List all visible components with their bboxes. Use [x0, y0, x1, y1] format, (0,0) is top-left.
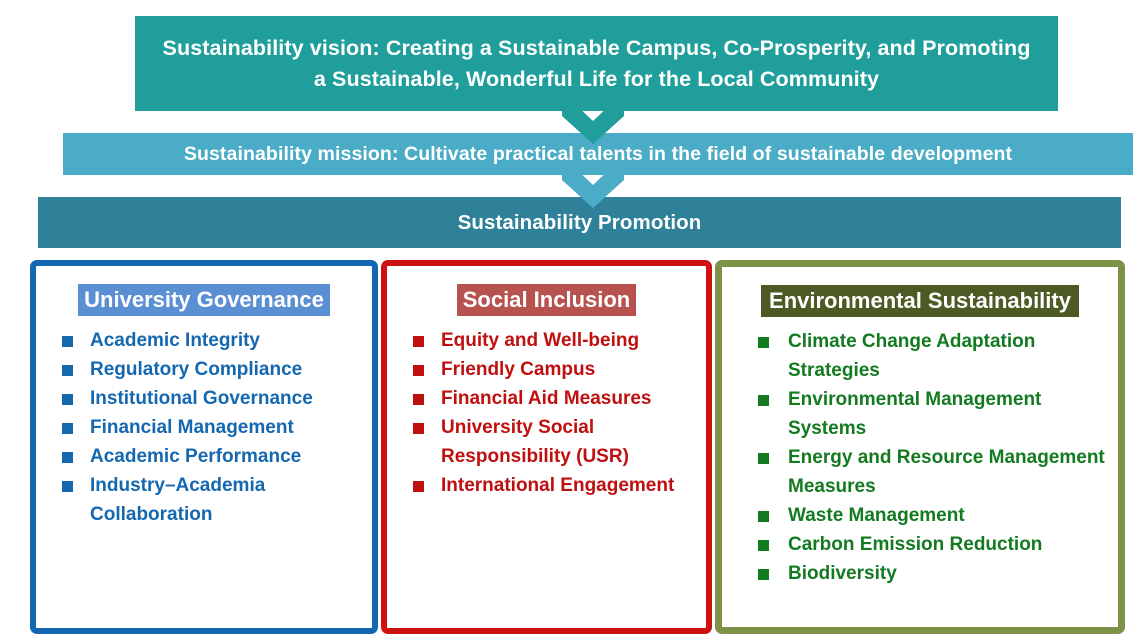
bullet-square-icon: [62, 481, 73, 492]
list-item-label: Industry–Academia Collaboration: [90, 475, 265, 525]
list-item: Carbon Emission Reduction: [756, 530, 1108, 559]
list-item: International Engagement: [411, 471, 696, 500]
pillar-social-inclusion: Social Inclusion Equity and Well-being F…: [381, 260, 712, 634]
bullet-square-icon: [62, 365, 73, 376]
pillar-university-governance: University Governance Academic Integrity…: [30, 260, 378, 634]
bullet-square-icon: [758, 395, 769, 406]
sustainability-vision-text: Sustainability vision: Creating a Sustai…: [157, 33, 1036, 95]
list-item-label: Institutional Governance: [90, 388, 313, 409]
bullet-square-icon: [62, 423, 73, 434]
list-item-label: University Social Responsibility (USR): [441, 417, 629, 467]
pillar-environmental-sustainability: Environmental Sustainability Climate Cha…: [715, 260, 1125, 634]
pillar-content: Environmental Sustainability Climate Cha…: [722, 267, 1118, 627]
list-item-label: Academic Integrity: [90, 330, 260, 351]
bullet-square-icon: [758, 337, 769, 348]
chevron-down-icon: [562, 168, 624, 208]
bullet-square-icon: [413, 394, 424, 405]
bullet-square-icon: [758, 569, 769, 580]
list-item-label: Climate Change Adaptation Strategies: [788, 331, 1035, 381]
list-item-label: Financial Aid Measures: [441, 388, 651, 409]
list-item-label: International Engagement: [441, 475, 674, 496]
list-item: Equity and Well-being: [411, 326, 696, 355]
list-item: Waste Management: [756, 501, 1108, 530]
sustainability-promotion-text: Sustainability Promotion: [458, 210, 702, 236]
sustainability-mission-text: Sustainability mission: Cultivate practi…: [184, 142, 1012, 166]
bullet-square-icon: [62, 336, 73, 347]
list-item-label: Biodiversity: [788, 563, 897, 584]
bullet-square-icon: [62, 452, 73, 463]
pillar-item-list: Equity and Well-being Friendly Campus Fi…: [393, 326, 700, 500]
list-item-label: Academic Performance: [90, 446, 301, 467]
pillar-content: University Governance Academic Integrity…: [36, 266, 372, 628]
bullet-square-icon: [758, 453, 769, 464]
list-item-label: Friendly Campus: [441, 359, 595, 380]
pillar-title-university-governance: University Governance: [78, 284, 330, 316]
pillar-item-list: Academic Integrity Regulatory Compliance…: [42, 326, 366, 529]
list-item: Climate Change Adaptation Strategies: [756, 327, 1108, 385]
bullet-square-icon: [62, 394, 73, 405]
list-item-label: Waste Management: [788, 505, 965, 526]
list-item: Friendly Campus: [411, 355, 696, 384]
pillar-item-list: Climate Change Adaptation Strategies Env…: [728, 327, 1112, 588]
list-item: Regulatory Compliance: [60, 355, 362, 384]
list-item: University Social Responsibility (USR): [411, 413, 696, 471]
list-item-label: Financial Management: [90, 417, 294, 438]
pillar-content: Social Inclusion Equity and Well-being F…: [387, 266, 706, 628]
list-item: Academic Integrity: [60, 326, 362, 355]
sustainability-vision-banner: Sustainability vision: Creating a Sustai…: [135, 16, 1058, 111]
pillar-title-environmental-sustainability: Environmental Sustainability: [761, 285, 1079, 317]
list-item: Financial Aid Measures: [411, 384, 696, 413]
list-item-label: Regulatory Compliance: [90, 359, 302, 380]
list-item: Environmental Management Systems: [756, 385, 1108, 443]
bullet-square-icon: [758, 511, 769, 522]
list-item: Biodiversity: [756, 559, 1108, 588]
list-item: Academic Performance: [60, 442, 362, 471]
list-item: Energy and Resource Management Measures: [756, 443, 1108, 501]
bullet-square-icon: [758, 540, 769, 551]
bullet-square-icon: [413, 336, 424, 347]
bullet-square-icon: [413, 481, 424, 492]
list-item-label: Energy and Resource Management Measures: [788, 447, 1105, 497]
list-item: Institutional Governance: [60, 384, 362, 413]
list-item-label: Environmental Management Systems: [788, 389, 1041, 439]
bullet-square-icon: [413, 423, 424, 434]
list-item-label: Equity and Well-being: [441, 330, 639, 351]
chevron-down-icon: [562, 104, 624, 144]
list-item: Financial Management: [60, 413, 362, 442]
list-item-label: Carbon Emission Reduction: [788, 534, 1042, 555]
bullet-square-icon: [413, 365, 424, 376]
list-item: Industry–Academia Collaboration: [60, 471, 362, 529]
pillar-title-social-inclusion: Social Inclusion: [457, 284, 636, 316]
